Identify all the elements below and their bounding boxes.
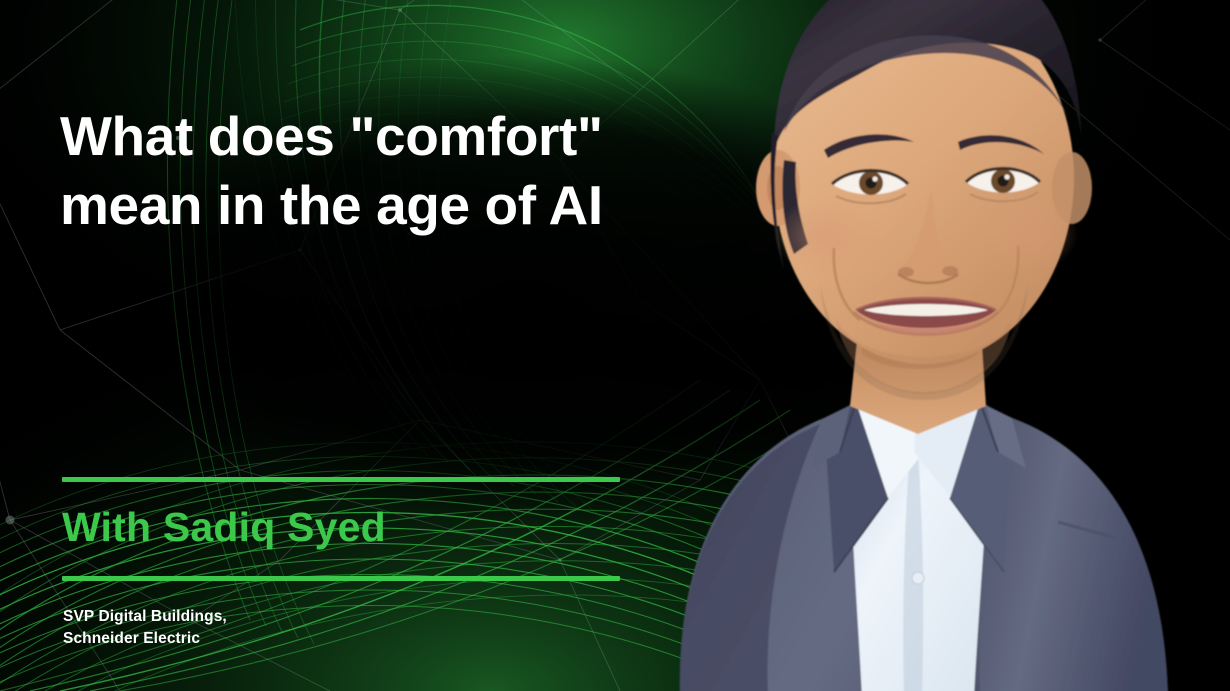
presentation-slide: What does "comfort" mean in the age of A…	[0, 0, 1230, 691]
speaker-name: With Sadiq Syed	[62, 505, 386, 550]
slide-title: What does "comfort" mean in the age of A…	[60, 102, 820, 241]
green-divider-top	[62, 477, 620, 482]
speaker-role: SVP Digital Buildings, Schneider Electri…	[63, 606, 227, 650]
green-divider-bottom	[62, 576, 620, 581]
